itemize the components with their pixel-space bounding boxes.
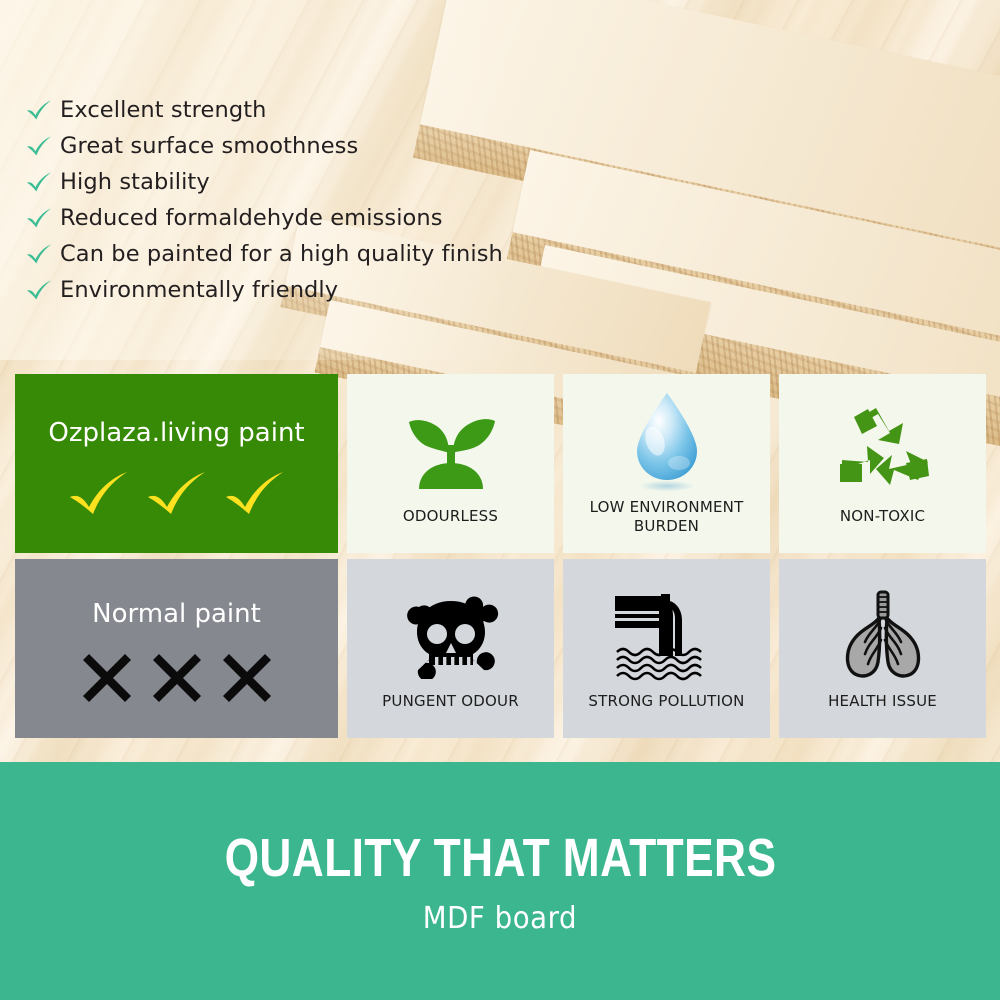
list-item: High stability xyxy=(26,164,586,200)
benefit-cell-odourless: ODOURLESS xyxy=(347,374,554,553)
drawback-caption: STRONG POLLUTION xyxy=(580,692,752,717)
sprout-icon xyxy=(405,395,497,507)
drawback-caption: PUNGENT ODOUR xyxy=(374,692,527,717)
tick-icon xyxy=(68,470,130,516)
benefit-cell-low-environment-burden: LOW ENVIRONMENT BURDEN xyxy=(563,374,770,553)
banner-subtitle: MDF board xyxy=(423,901,577,936)
list-item-label: Can be painted for a high quality finish xyxy=(60,241,503,267)
normal-paint-panel: Normal paint xyxy=(15,559,338,738)
benefit-caption: ODOURLESS xyxy=(395,507,506,532)
benefit-caption: LOW ENVIRONMENT BURDEN xyxy=(563,498,770,542)
list-item: Environmentally friendly xyxy=(26,272,586,308)
list-item-label: Reduced formaldehyde emissions xyxy=(60,205,443,231)
list-item-label: Great surface smoothness xyxy=(60,133,358,159)
lungs-icon xyxy=(835,580,931,692)
recycle-icon xyxy=(832,395,934,507)
list-item: Excellent strength xyxy=(26,92,586,128)
check-icon xyxy=(26,171,52,193)
benefit-cell-non-toxic: NON-TOXIC xyxy=(779,374,986,553)
cross-icon xyxy=(220,651,274,705)
drawback-cell-strong-pollution: STRONG POLLUTION xyxy=(563,559,770,738)
skull-crossbones-icon xyxy=(399,580,503,692)
drawback-cell-pungent-odour: PUNGENT ODOUR xyxy=(347,559,554,738)
paint-comparison-grid: Ozplaza.living paint xyxy=(15,374,985,738)
list-item-label: Environmentally friendly xyxy=(60,277,338,303)
list-item: Great surface smoothness xyxy=(26,128,586,164)
list-item-label: High stability xyxy=(60,169,210,195)
drawback-cell-health-issue: HEALTH ISSUE xyxy=(779,559,986,738)
list-item: Can be painted for a high quality finish xyxy=(26,236,586,272)
check-icon xyxy=(26,135,52,157)
list-item-label: Excellent strength xyxy=(60,97,267,123)
water-drop-icon xyxy=(625,386,709,498)
pipe-pollution-icon xyxy=(611,580,723,692)
feature-list: Excellent strength Great surface smoothn… xyxy=(26,92,586,308)
tick-icon xyxy=(224,470,286,516)
tick-marks-row xyxy=(68,470,286,516)
drawback-caption: HEALTH ISSUE xyxy=(820,692,945,717)
check-icon xyxy=(26,207,52,229)
promo-banner-page: Excellent strength Great surface smoothn… xyxy=(0,0,1000,1000)
normal-paint-label: Normal paint xyxy=(92,599,261,629)
check-icon xyxy=(26,243,52,265)
check-icon xyxy=(26,99,52,121)
check-icon xyxy=(26,279,52,301)
ozplaza-paint-label: Ozplaza.living paint xyxy=(48,418,304,448)
banner-title: QUALITY THAT MATTERS xyxy=(224,827,776,889)
bottom-banner: QUALITY THAT MATTERS MDF board xyxy=(0,762,1000,1000)
tick-icon xyxy=(146,470,208,516)
cross-icon xyxy=(80,651,134,705)
cross-icon xyxy=(150,651,204,705)
ozplaza-paint-panel: Ozplaza.living paint xyxy=(15,374,338,553)
cross-marks-row xyxy=(80,651,274,705)
benefit-caption: NON-TOXIC xyxy=(832,507,933,532)
list-item: Reduced formaldehyde emissions xyxy=(26,200,586,236)
